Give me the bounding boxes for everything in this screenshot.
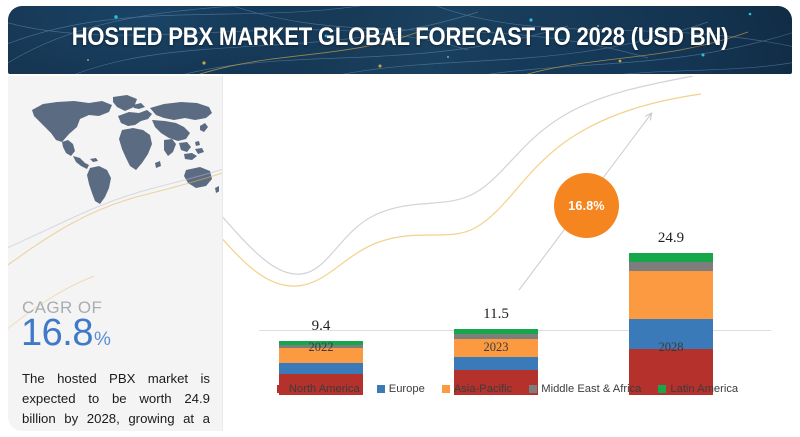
legend-label: Asia-Pacific [454,383,512,395]
legend-label: Europe [389,383,425,395]
legend-item-north-america[interactable]: North America [277,383,360,395]
left-info-panel: CAGR OF 16.8 % The hosted PBX market is … [8,76,222,431]
x-axis-tick-2028: 2028 [659,340,684,355]
legend-item-middle-east-africa[interactable]: Middle East & Africa [529,383,641,395]
bar-total-label: 24.9 [658,230,684,247]
legend-swatch-icon [442,385,450,393]
description-text: The hosted PBX market is expected to be … [22,369,210,431]
cagr-value: 16.8 [21,314,93,352]
legend-item-europe[interactable]: Europe [377,383,425,395]
bar-segment-latin-america[interactable] [629,253,713,262]
chart-legend: North AmericaEuropeAsia-PacificMiddle Ea… [223,383,792,395]
bar-segment-middle-east-africa[interactable] [629,262,713,271]
cagr-bubble-badge: 16.8% [554,173,619,238]
bar-total-label: 9.4 [312,318,331,335]
cagr-percent-sign: % [94,329,111,351]
x-axis-tick-2023: 2023 [484,340,509,355]
bar-total-label: 11.5 [483,306,509,323]
header-banner: HOSTED PBX MARKET GLOBAL FORECAST TO 202… [8,6,792,74]
legend-swatch-icon [529,385,537,393]
legend-swatch-icon [377,385,385,393]
legend-label: Latin America [670,383,738,395]
bar-group-2028[interactable]: 24.9 [629,253,713,395]
legend-swatch-icon [658,385,666,393]
legend-item-asia-pacific[interactable]: Asia-Pacific [442,383,512,395]
world-map-icon [14,90,219,210]
bar-segment-asia-pacific[interactable] [629,271,713,319]
bar-segment-europe[interactable] [454,357,538,371]
bar-segment-europe[interactable] [279,363,363,374]
legend-label: North America [289,383,360,395]
legend-label: Middle East & Africa [541,383,641,395]
x-axis-tick-2022: 2022 [309,340,334,355]
legend-swatch-icon [277,385,285,393]
infographic-root: HOSTED PBX MARKET GLOBAL FORECAST TO 202… [0,0,800,437]
legend-item-latin-america[interactable]: Latin America [658,383,738,395]
bar-stack [629,253,713,395]
cagr-value-row: 16.8 % [21,314,111,352]
chart-area: 16.8% 9.4202211.5202324.92028 North Amer… [223,76,792,431]
page-title: HOSTED PBX MARKET GLOBAL FORECAST TO 202… [55,23,745,52]
